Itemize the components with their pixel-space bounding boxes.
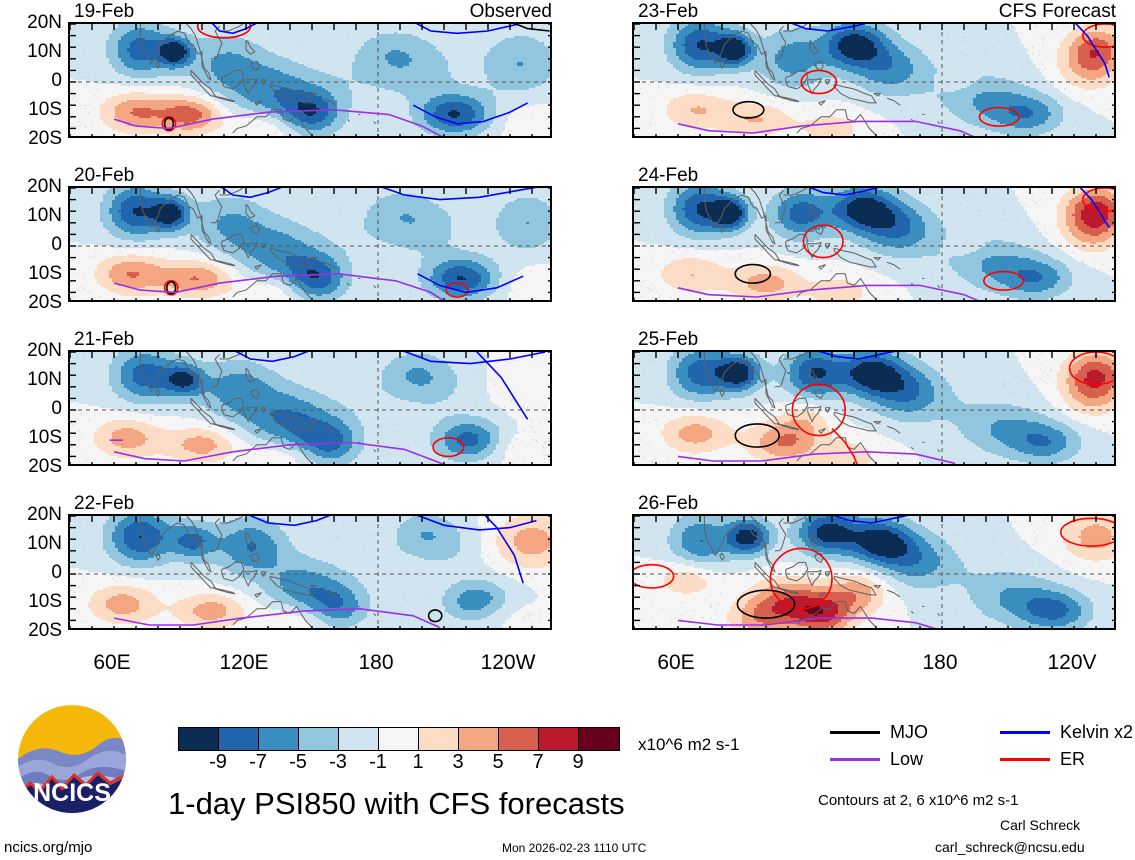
map-panel[interactable] (68, 186, 552, 302)
colorbar-segment (179, 728, 219, 750)
x-axis-tick-label: 180 (900, 652, 980, 673)
author-name: Carl Schreck (1000, 818, 1080, 832)
y-axis-tick-label: 10S (0, 592, 62, 611)
panel-date-label: 21-Feb (74, 330, 134, 349)
logo-text: NCICS (33, 779, 111, 807)
x-axis-tick-label: 120E (204, 652, 284, 673)
site-link[interactable]: ncics.org/mjo (4, 840, 92, 855)
y-axis-tick-label: 0 (0, 71, 62, 90)
colorbar-segment (339, 728, 379, 750)
anomaly-field (70, 188, 552, 302)
colorbar-segment (499, 728, 539, 750)
y-axis-tick-label: 10S (0, 264, 62, 283)
render-timestamp: Mon 2026-02-23 1110 UTC (502, 842, 646, 854)
panel-date-label: 22-Feb (74, 494, 134, 513)
legend-label: MJO (890, 723, 928, 741)
legend-line-swatch (1000, 758, 1050, 761)
legend-label: ER (1060, 750, 1085, 768)
colorbar-unit-label: x10^6 m2 s-1 (638, 736, 740, 753)
y-axis-tick-label: 10N (0, 206, 62, 225)
x-axis-tick-label: 60E (72, 652, 152, 673)
y-axis-tick-label: 10N (0, 534, 62, 553)
map-panel[interactable] (632, 350, 1116, 466)
y-axis-tick-label: 20S (0, 293, 62, 312)
x-axis-tick-label: 60E (636, 652, 716, 673)
map-panel[interactable] (632, 186, 1116, 302)
author-email[interactable]: carl_schreck@ncsu.edu (935, 840, 1085, 854)
map-panel[interactable] (68, 514, 552, 630)
y-axis-tick-label: 20N (0, 505, 62, 524)
y-axis-tick-label: 20S (0, 129, 62, 148)
map-panel[interactable] (68, 22, 552, 138)
y-axis-tick-label: 0 (0, 235, 62, 254)
colorbar-segment (259, 728, 299, 750)
colorbar-segment (299, 728, 339, 750)
anomaly-field (634, 352, 1116, 466)
legend-line-swatch (1000, 731, 1050, 734)
colorbar-segment (419, 728, 459, 750)
legend-label: Kelvin x2 (1060, 723, 1133, 741)
colorbar-segment (379, 728, 419, 750)
column-header-cfs-forecast: CFS Forecast (632, 2, 1116, 21)
y-axis-tick-label: 10N (0, 42, 62, 61)
panel-date-label: 26-Feb (638, 494, 698, 513)
colorbar-tick-label: 9 (553, 752, 603, 772)
colorbar-segment (579, 728, 619, 750)
map-panel[interactable] (632, 514, 1116, 630)
colorbar-segment (219, 728, 259, 750)
panel-date-label: 24-Feb (638, 166, 698, 185)
colorbar-segment (539, 728, 579, 750)
y-axis-tick-label: 10S (0, 100, 62, 119)
y-axis-tick-label: 20S (0, 457, 62, 476)
map-panel[interactable] (68, 350, 552, 466)
anomaly-field (70, 516, 552, 630)
contour-note: Contours at 2, 6 x10^6 m2 s-1 (818, 794, 1018, 808)
figure-title: 1-day PSI850 with CFS forecasts (168, 788, 625, 819)
x-axis-tick-label: 180 (336, 652, 416, 673)
colorbar-segment (459, 728, 499, 750)
colorbar (178, 727, 620, 751)
panel-date-label: 20-Feb (74, 166, 134, 185)
legend-line-swatch (830, 758, 880, 761)
legend-line-swatch (830, 731, 880, 734)
y-axis-tick-label: 20N (0, 341, 62, 360)
y-axis-tick-label: 10N (0, 370, 62, 389)
y-axis-tick-label: 0 (0, 399, 62, 418)
anomaly-field (634, 516, 1116, 630)
anomaly-field (70, 352, 552, 466)
column-header-observed: Observed (68, 2, 552, 21)
legend-label: Low (890, 750, 923, 768)
x-axis-tick-label: 120V (1032, 652, 1112, 673)
anomaly-field (70, 24, 552, 138)
y-axis-tick-label: 20N (0, 13, 62, 32)
ncics-logo: NCICS (18, 705, 126, 813)
y-axis-tick-label: 20N (0, 177, 62, 196)
y-axis-tick-label: 20S (0, 621, 62, 640)
y-axis-tick-label: 10S (0, 428, 62, 447)
panel-date-label: 25-Feb (638, 330, 698, 349)
y-axis-tick-label: 0 (0, 563, 62, 582)
x-axis-tick-label: 120E (768, 652, 848, 673)
x-axis-tick-label: 120W (468, 652, 548, 673)
map-panel[interactable] (632, 22, 1116, 138)
